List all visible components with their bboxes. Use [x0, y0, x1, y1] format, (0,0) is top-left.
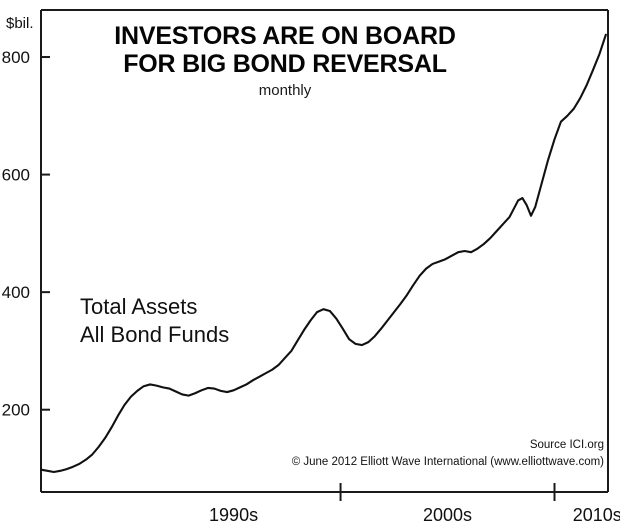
credits-block: Source ICI.org © June 2012 Elliott Wave …: [292, 437, 604, 470]
y-tick-label-200: 200: [2, 401, 30, 420]
data-series-line: [41, 35, 606, 472]
series-annotation-line-2: All Bond Funds: [80, 321, 229, 349]
series-annotation: Total Assets All Bond Funds: [80, 293, 229, 348]
x-axis-label-1990s: 1990s: [209, 505, 258, 525]
y-tick-label-400: 400: [2, 283, 30, 302]
source-text: Source ICI.org: [292, 437, 604, 454]
chart-container: 200400600800 1990s2000s2010s $bil. INVES…: [0, 0, 620, 527]
y-tick-label-800: 800: [2, 48, 30, 67]
x-axis-label-2010s: 2010s: [573, 505, 620, 525]
x-axis-label-2000s: 2000s: [423, 505, 472, 525]
y-axis-tick-labels: 200400600800: [2, 48, 30, 420]
x-axis-tick-labels: 1990s2000s2010s: [209, 505, 620, 525]
copyright-text: © June 2012 Elliott Wave International (…: [292, 454, 604, 471]
plot-frame: [41, 10, 608, 492]
series-annotation-line-1: Total Assets: [80, 293, 229, 321]
y-axis-unit-label: $bil.: [6, 15, 34, 32]
y-tick-label-600: 600: [2, 166, 30, 185]
